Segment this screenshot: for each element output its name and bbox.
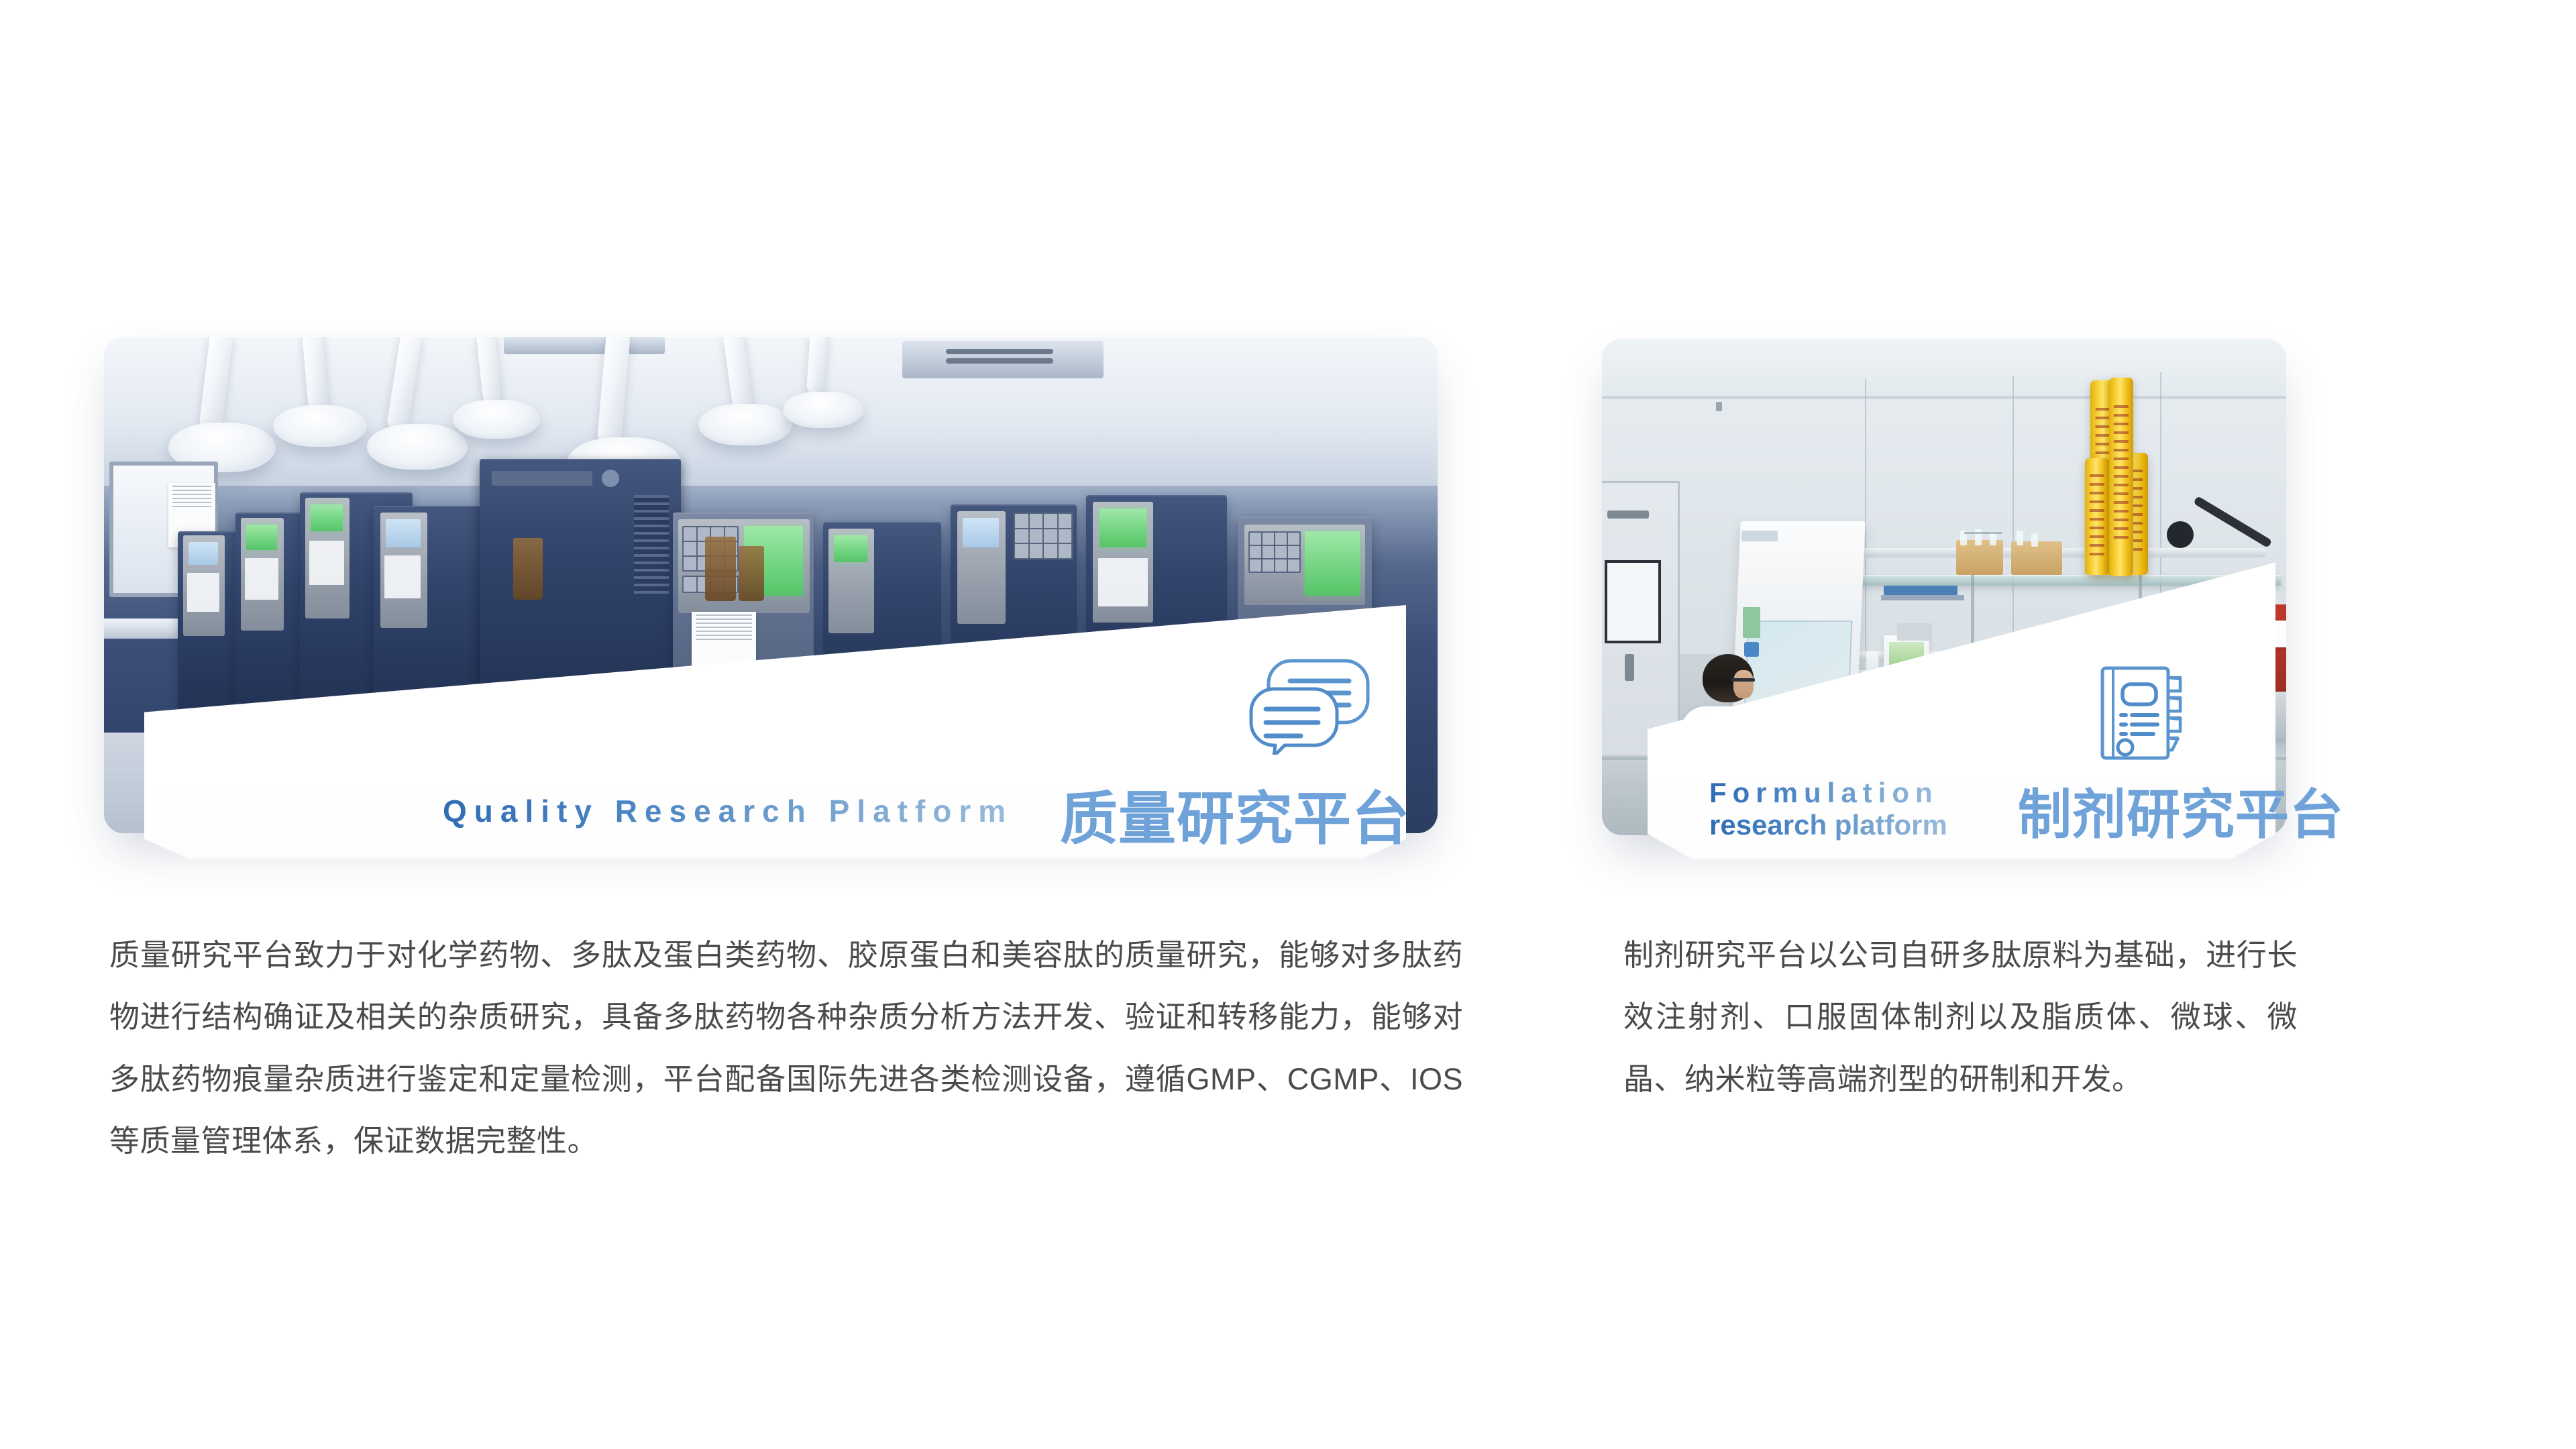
chat-bubbles-icon <box>1244 654 1372 755</box>
left-title-en: Quality Research Platform <box>443 793 1013 829</box>
right-title-cn: 制剂研究平台 <box>2018 771 2344 849</box>
left-paragraph: 质量研究平台致力于对化学药物、多肽及蛋白类药物、胶原蛋白和美容肽的质量研究，能够… <box>109 924 1463 1172</box>
left-title-cn: 质量研究平台 <box>1060 771 1410 855</box>
card-quality-research-platform[interactable]: Quality Research Platform 质量研究平台 质量研究平台致… <box>0 0 1543 1449</box>
right-title-en-line2: research platform <box>1709 809 1947 841</box>
right-paragraph: 制剂研究平台以公司自研多肽原料为基础，进行长效注射剂、口服固体制剂以及脂质体、微… <box>1623 924 2298 1110</box>
right-title-en-line1: Formulation <box>1709 777 1939 809</box>
card-formulation-research-platform[interactable]: Formulation research platform 制剂研究平台 制剂研… <box>1543 0 2576 1449</box>
platforms-page: Quality Research Platform 质量研究平台 质量研究平台致… <box>0 0 2576 1449</box>
notebook-binder-icon <box>2098 663 2187 765</box>
